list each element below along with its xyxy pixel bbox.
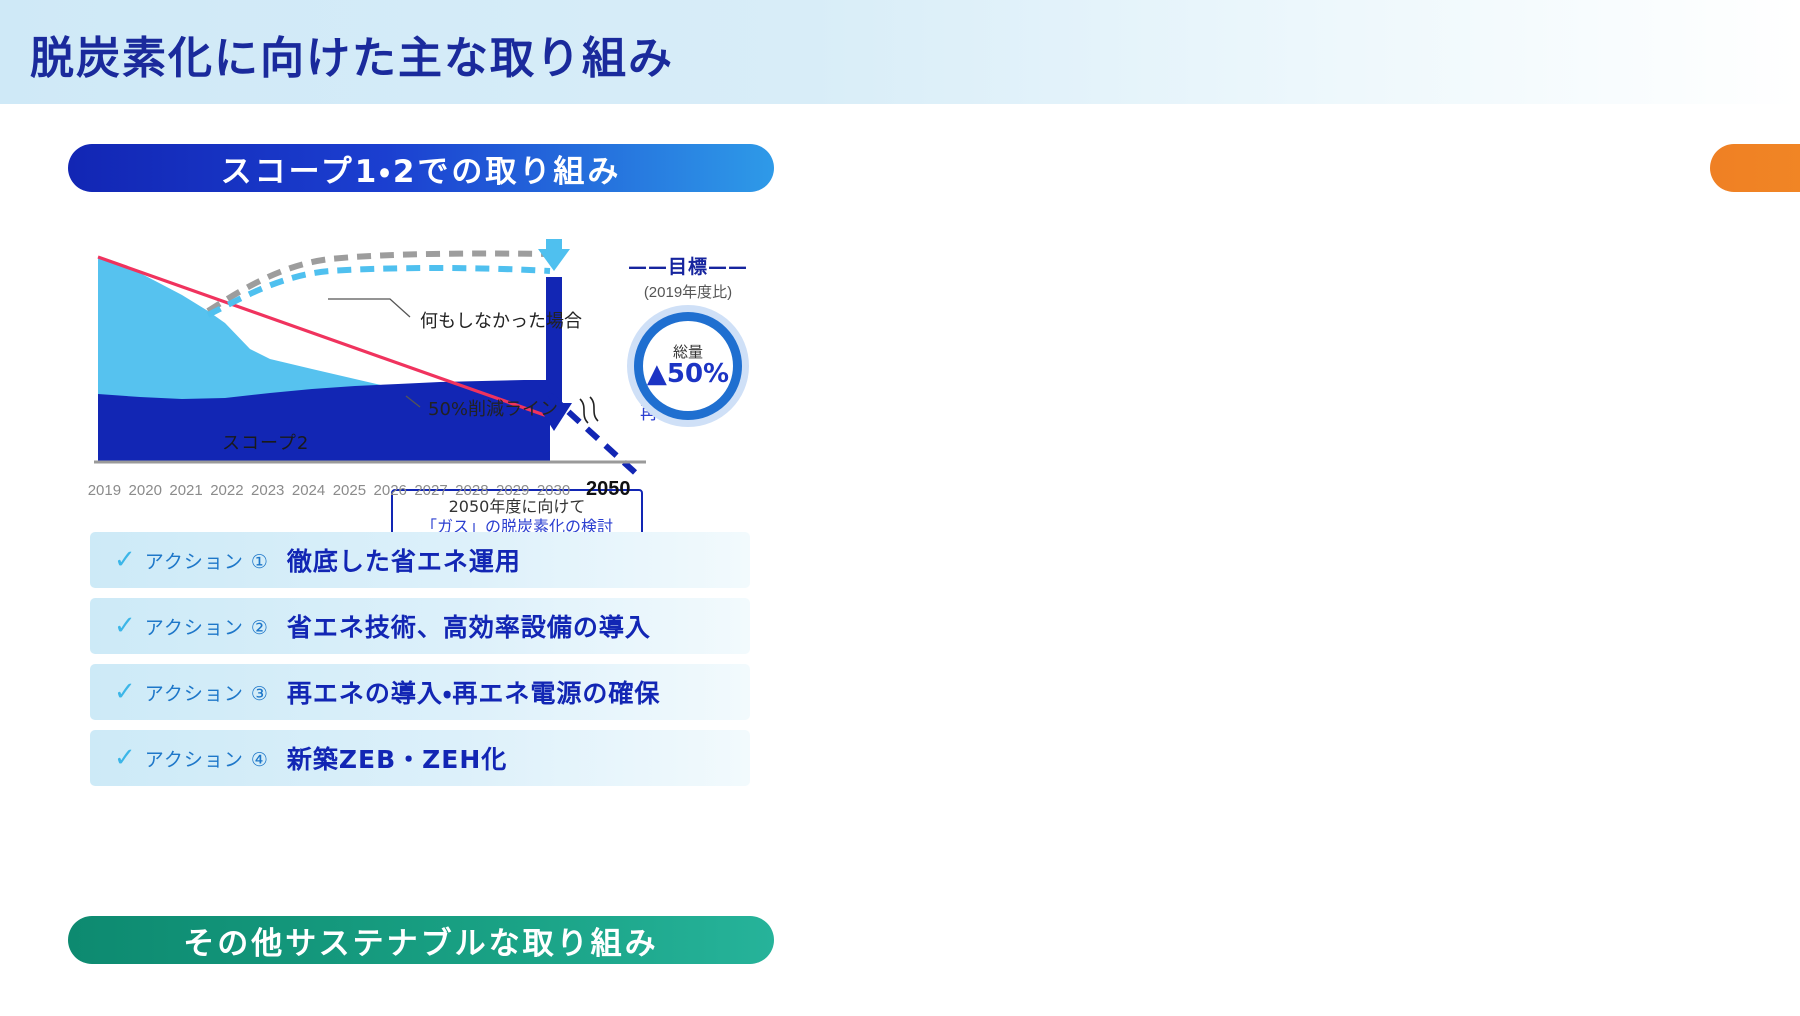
year-tick: 2020 <box>125 482 166 499</box>
year-tick: 2027 <box>411 482 452 499</box>
year-tick: 2025 <box>329 482 370 499</box>
action-row[interactable]: ✓アクション ①徹底した省エネ運用 <box>90 532 750 588</box>
action-text: 徹底した省エネ運用 <box>287 542 521 578</box>
label-reduction-line: 50%削減ライン <box>428 395 558 421</box>
check-icon: ✓ <box>114 745 136 771</box>
action-row[interactable]: ✓アクション ②省エネ技術、高効率設備の導入 <box>90 598 750 654</box>
banner-other-sustainable: その他サステナブルな取り組み <box>68 916 774 964</box>
year-tick: 2024 <box>288 482 329 499</box>
check-icon: ✓ <box>114 679 136 705</box>
target-subtitle: (2019年度比) <box>618 281 758 302</box>
action-number: アクション ③ <box>145 679 269 706</box>
badge-value: ▲50% <box>647 361 729 387</box>
year-tick: 2028 <box>451 482 492 499</box>
scope12-area-chart: 何もしなかった場合 50%削減ライン スコープ2 スコープ1 省エネ 再エネ 2… <box>80 199 660 499</box>
action-number: アクション ① <box>145 547 269 574</box>
banner-scope3: スコープ3での取り組み <box>1710 144 1800 192</box>
page-title: 脱炭素化に向けた主な取り組み <box>30 22 674 86</box>
do-nothing-dashed <box>208 254 550 311</box>
action-number: アクション ④ <box>145 745 269 772</box>
banner-scope12: スコープ1・2での取り組み <box>68 144 774 192</box>
year-tick: 2022 <box>206 482 247 499</box>
action-text: 省エネ技術、高効率設備の導入 <box>287 608 651 644</box>
x-axis-years-left: 2019202020212022202320242025202620272028… <box>84 482 574 499</box>
page-header: 脱炭素化に向けた主な取り組み <box>0 0 1800 104</box>
target-group-scope12: ——目標—— (2019年度比) 総量 ▲50% <box>618 252 758 420</box>
year-tick: 2029 <box>492 482 533 499</box>
label-do-nothing: 何もしなかった場合 <box>420 307 582 333</box>
leader-do-nothing <box>328 299 410 317</box>
year-tick: 2026 <box>370 482 411 499</box>
check-icon: ✓ <box>114 613 136 639</box>
x-axis-2050-left: 2050 <box>586 478 631 501</box>
axis-break-squiggle <box>580 397 598 423</box>
action-number: アクション ② <box>145 613 269 640</box>
year-tick: 2030 <box>533 482 574 499</box>
energy-saving-arrow <box>538 239 570 271</box>
target-heading: ——目標—— <box>618 252 758 279</box>
actions-list-scope12: ✓アクション ①徹底した省エネ運用✓アクション ②省エネ技術、高効率設備の導入✓… <box>90 532 750 796</box>
action-text: 新築ZEB・ZEH化 <box>287 740 507 776</box>
year-tick: 2021 <box>166 482 207 499</box>
check-icon: ✓ <box>114 547 136 573</box>
action-text: 再エネの導入・再エネ電源の確保 <box>287 674 661 710</box>
year-tick: 2023 <box>247 482 288 499</box>
scope12-chart-svg <box>80 199 660 499</box>
badge-label: 総量 <box>673 345 703 361</box>
label-scope2: スコープ2 <box>222 429 309 455</box>
action-row[interactable]: ✓アクション ③再エネの導入・再エネ電源の確保 <box>90 664 750 720</box>
action-row[interactable]: ✓アクション ④新築ZEB・ZEH化 <box>90 730 750 786</box>
badge-total-50: 総量 ▲50% <box>634 312 742 420</box>
year-tick: 2019 <box>84 482 125 499</box>
